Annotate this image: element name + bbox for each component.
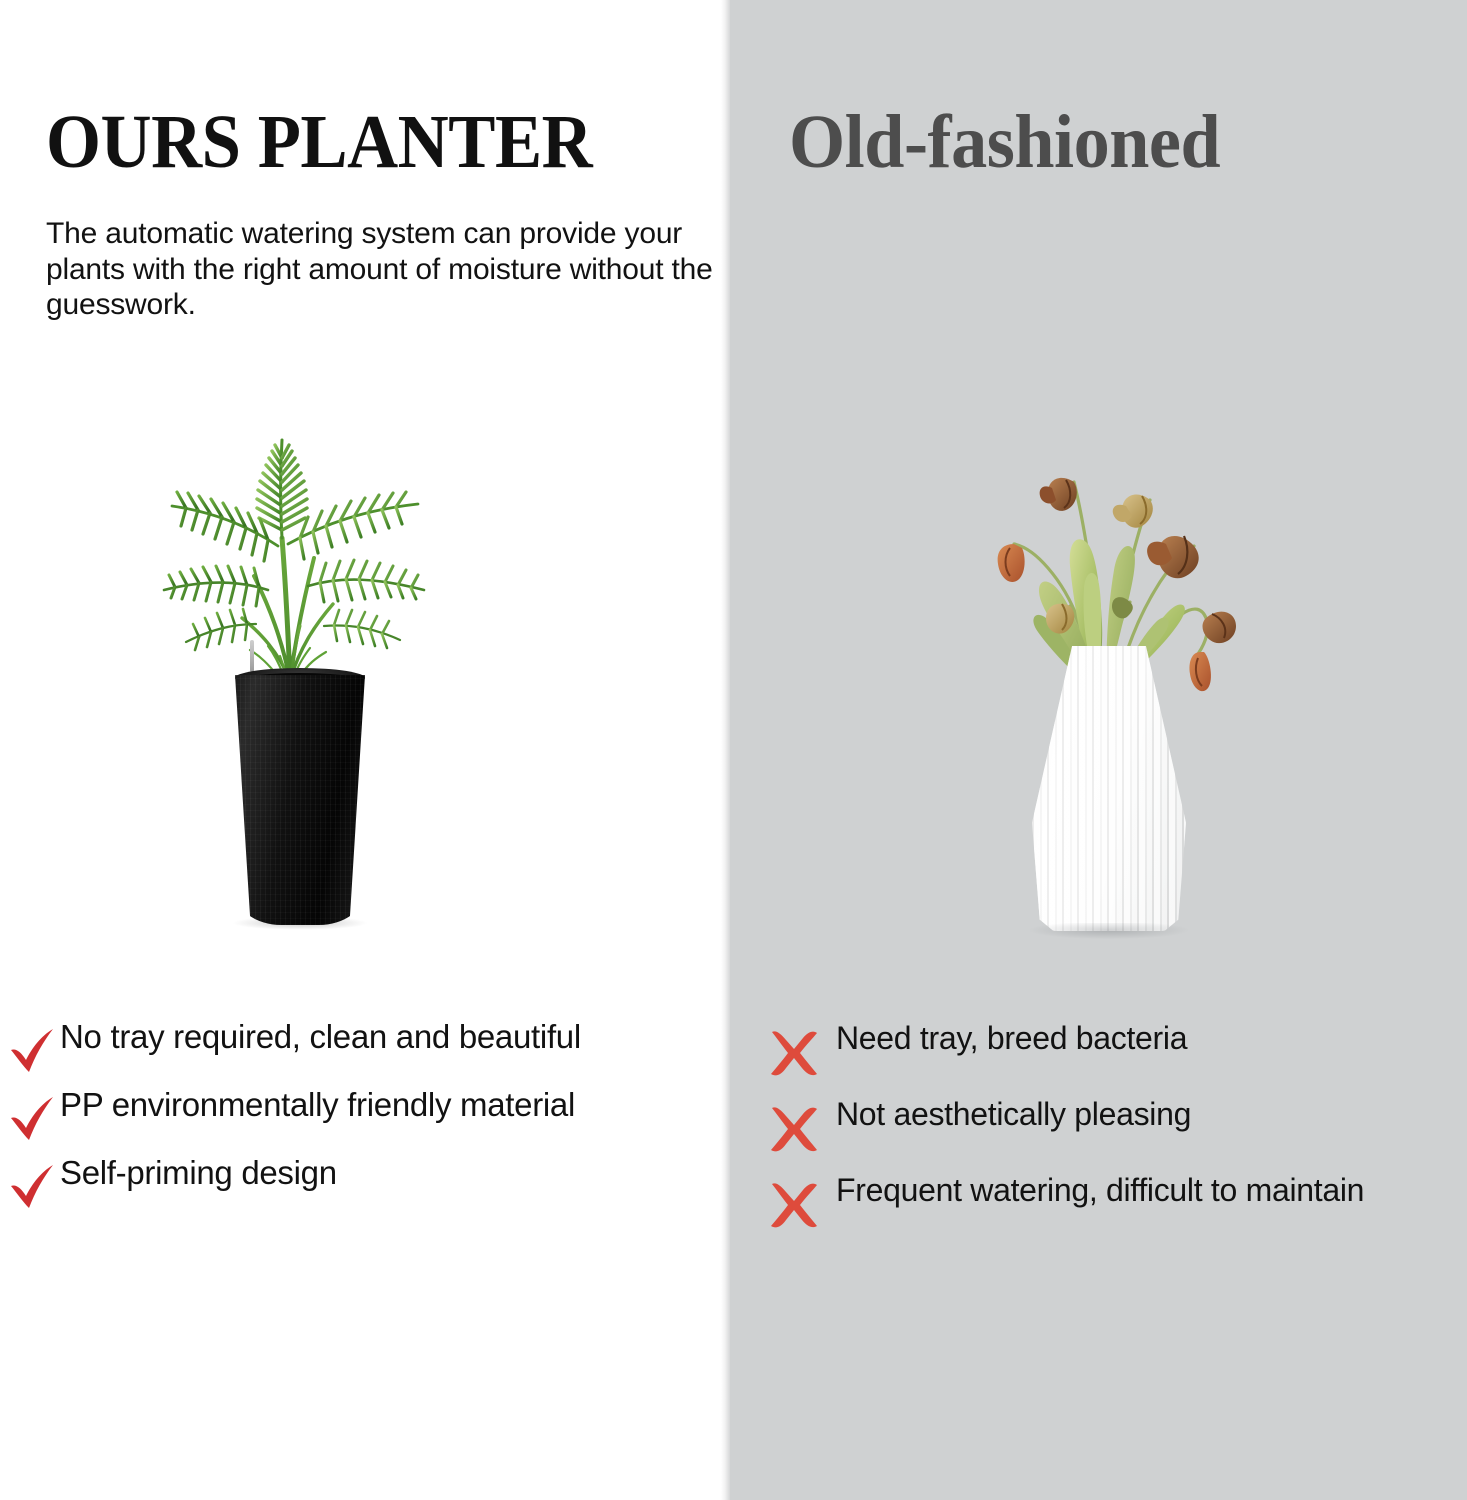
cross-icon (766, 1104, 822, 1154)
list-item-label: Not aesthetically pleasing (836, 1094, 1191, 1135)
water-level-indicator (250, 640, 254, 672)
list-item-label: Frequent watering, difficult to maintain (836, 1170, 1364, 1211)
panel-divider (721, 0, 730, 1500)
ours-lead-paragraph: The automatic watering system can provid… (46, 216, 714, 323)
check-icon (8, 1026, 58, 1076)
pros-list: No tray required, clean and beautiful PP… (8, 1016, 708, 1220)
product-photo-ours-planter (128, 418, 458, 938)
list-item-label: PP environmentally friendly material (60, 1084, 575, 1125)
cross-icon (766, 1180, 822, 1230)
list-item: Self-priming design (8, 1152, 708, 1212)
list-item: Not aesthetically pleasing (766, 1094, 1426, 1154)
list-item: PP environmentally friendly material (8, 1084, 708, 1144)
cons-list: Need tray, breed bacteria Not aesthetica… (766, 1018, 1426, 1246)
planter-shadow (232, 916, 368, 930)
list-item: Frequent watering, difficult to maintain (766, 1170, 1426, 1230)
heading-ours-planter: OURS PLANTER (46, 101, 592, 183)
cross-icon (766, 1028, 822, 1078)
black-planter-body (235, 670, 365, 925)
list-item: No tray required, clean and beautiful (8, 1016, 708, 1076)
list-item-label: No tray required, clean and beautiful (60, 1016, 581, 1057)
list-item-label: Self-priming design (60, 1152, 337, 1193)
comparison-infographic: OURS PLANTER Old-fashioned The automatic… (0, 0, 1467, 1500)
check-icon (8, 1094, 58, 1144)
heading-old-fashioned: Old-fashioned (789, 101, 1220, 183)
vase-shadow (1030, 923, 1188, 939)
list-item: Need tray, breed bacteria (766, 1018, 1426, 1078)
product-photo-old-fashioned-vase (944, 418, 1284, 938)
check-icon (8, 1162, 58, 1212)
areca-palm-illustration (128, 418, 458, 688)
list-item-label: Need tray, breed bacteria (836, 1018, 1187, 1059)
